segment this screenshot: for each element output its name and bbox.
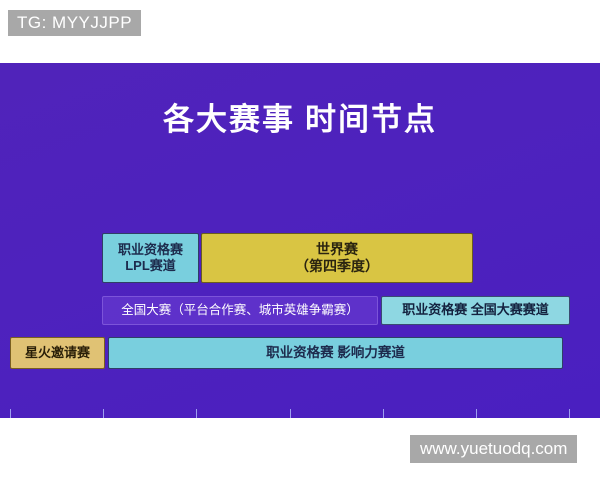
- axis-tick-7: [569, 409, 570, 418]
- bar-label-line1: 职业资格赛 全国大赛赛道: [402, 302, 549, 318]
- bar-label-line2: （第四季度）: [295, 258, 379, 276]
- bar-world-championship[interactable]: 世界赛 （第四季度）: [201, 233, 473, 283]
- bar-spark-invitational[interactable]: 星火邀请赛: [10, 337, 105, 369]
- bar-label-line1: 世界赛: [295, 241, 379, 259]
- page-title-part-1: 各大赛事: [163, 102, 295, 137]
- axis-tick-5: [383, 409, 384, 418]
- page-title: 各大赛事时间节点: [0, 94, 600, 139]
- bar-national-competition[interactable]: 全国大赛（平台合作赛、城市英雄争霸赛）: [102, 296, 378, 325]
- screenshot-root: TG: MYYJJPP 各大赛事时间节点 职业资格赛 LPL赛道 世界赛 （第四…: [0, 0, 600, 480]
- axis-tick-6: [476, 409, 477, 418]
- bar-label-line1: 职业资格赛: [118, 242, 183, 258]
- bar-label-line1: 星火邀请赛: [25, 345, 90, 361]
- bar-pro-qualifier-lpl[interactable]: 职业资格赛 LPL赛道: [102, 233, 199, 283]
- axis-tick-2: [103, 409, 104, 418]
- bar-label-line1: 全国大赛（平台合作赛、城市英雄争霸赛）: [121, 303, 359, 319]
- timeline-chart-panel: 各大赛事时间节点 职业资格赛 LPL赛道 世界赛 （第四季度） 全国大赛（平台合…: [0, 63, 600, 418]
- bar-pro-qualifier-national[interactable]: 职业资格赛 全国大赛赛道: [381, 296, 570, 325]
- bar-label-line2: LPL赛道: [118, 258, 183, 274]
- telegram-watermark-badge: TG: MYYJJPP: [8, 10, 141, 36]
- page-title-part-2: 时间节点: [305, 102, 437, 137]
- axis-tick-3: [196, 409, 197, 418]
- axis-tick-4: [290, 409, 291, 418]
- axis-tick-1: [10, 409, 11, 418]
- bar-label-line1: 职业资格赛 影响力赛道: [266, 345, 405, 362]
- site-watermark-badge: www.yuetuodq.com: [410, 435, 577, 463]
- bar-pro-qualifier-influence[interactable]: 职业资格赛 影响力赛道: [108, 337, 563, 369]
